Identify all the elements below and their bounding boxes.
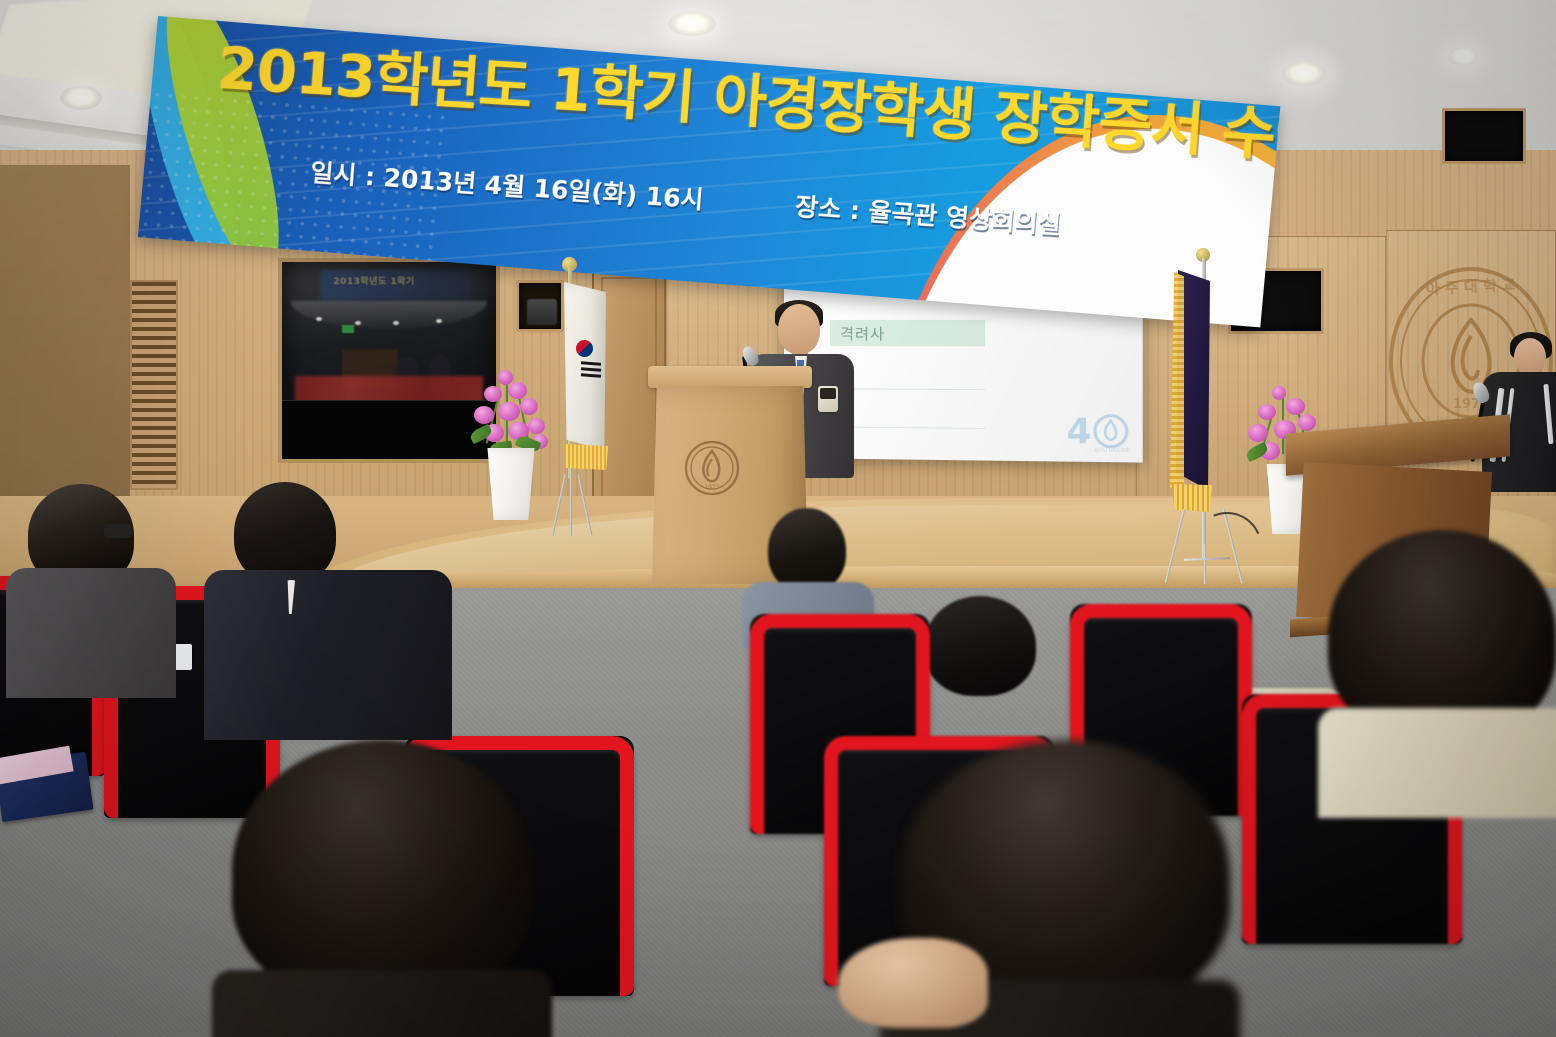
speaker-name-badge: [818, 386, 838, 412]
audience-hand: [838, 938, 998, 1037]
audience-head-foreground-right: [1328, 530, 1556, 790]
audience-head-suit: [234, 482, 336, 584]
forty-anniversary-icon: 4 AJOU UNIVERSITY: [1064, 408, 1130, 454]
audience-body-suit: [204, 570, 452, 740]
svg-text:AJOU UNIVERSITY: AJOU UNIVERSITY: [1094, 448, 1130, 455]
flag-cloth: [564, 282, 606, 450]
audience-member-front-left: [16, 484, 156, 694]
flower-arrangement-left: [460, 362, 570, 524]
taeguk-circle-icon: [576, 340, 593, 357]
downlight-icon-1: [60, 86, 102, 110]
mc-head: [1514, 338, 1546, 376]
downlight-icon-5: [1282, 62, 1326, 86]
svg-text:1973: 1973: [704, 484, 719, 491]
podium-top-surface: [648, 366, 812, 388]
wall-left-recess: [0, 165, 130, 515]
svg-text:4: 4: [1067, 412, 1092, 452]
flower-pot-left: [480, 448, 542, 520]
wall-air-grille: [130, 280, 178, 490]
flag-fringe: [564, 444, 608, 470]
audience-body-left: [6, 568, 176, 698]
podium-emblem-icon: 1973: [684, 440, 740, 496]
speaker-head: [778, 304, 820, 354]
wall-speaker-right: [1442, 108, 1526, 164]
uflag-side-fringe: [1170, 272, 1184, 488]
audience-head-foreground-left: [232, 740, 552, 1037]
svg-text:아 주 대 학 교: 아 주 대 학 교: [1425, 276, 1516, 299]
audience-member-front-left-suit: [218, 482, 458, 732]
auditorium-ceremony-photo: 아 주 대 학 교 AJOU UNIV 1973 2013학년도 1학기: [0, 0, 1556, 1037]
downlight-icon-4: [668, 12, 716, 36]
uflag-bottom-fringe: [1172, 484, 1212, 512]
monitor-reflection-text: 2013학년도 1학기: [333, 274, 414, 287]
audience-glasses-icon: [104, 524, 132, 538]
downlight-icon-6: [1448, 48, 1478, 66]
